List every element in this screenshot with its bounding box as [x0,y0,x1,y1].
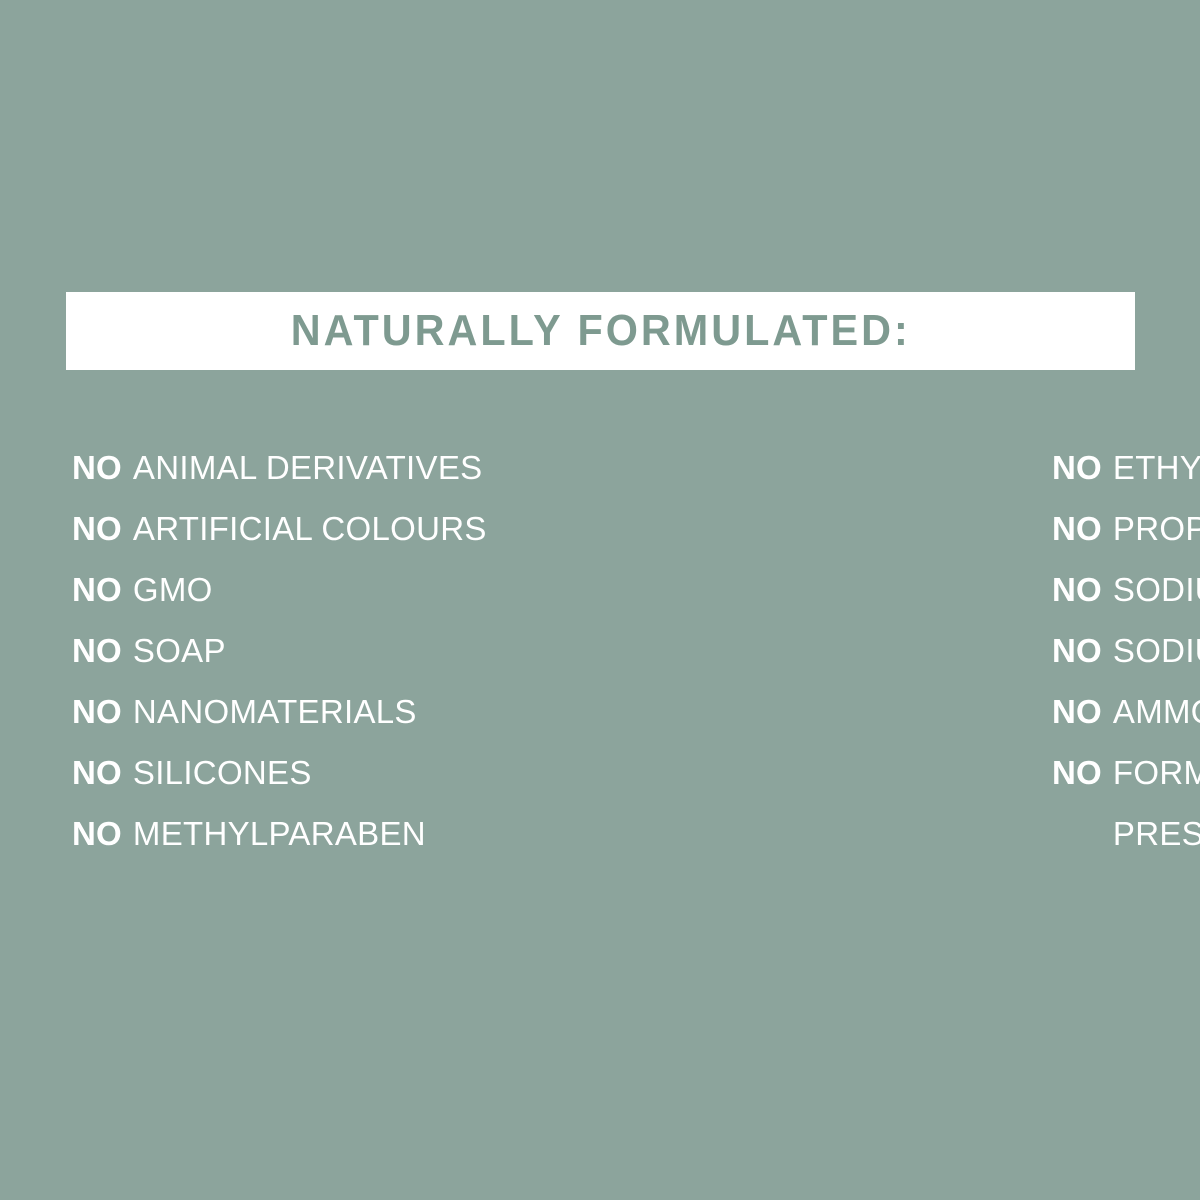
item-no-prefix: NO [72,512,122,545]
page-title: NATURALLY FORMULATED: [291,309,911,353]
ingredient-exclusion-lists: NOANIMAL DERIVATIVESNOARTIFICIAL COLOURS… [0,437,1200,864]
item-label: METHYLPARABEN [133,817,426,850]
list-item: NOSILICONES [72,742,490,803]
item-no-prefix: NO [1052,512,1102,545]
list-item: NOARTIFICIAL COLOURS [72,498,490,559]
item-label: FORMALDEHYDE RELEASING [1113,756,1200,789]
item-label: GMO [133,573,213,606]
list-item: NOMETHYLPARABEN [72,803,490,864]
list-item: NOETHYLPARABEN [1052,437,1200,498]
item-no-prefix: NO [1052,695,1102,728]
item-label: ETHYLPARABEN [1113,451,1200,484]
item-no-prefix: NO [1052,634,1102,667]
item-label: SODIUM LAURYL SULPHATE [1113,573,1200,606]
item-no-prefix: NO [72,451,122,484]
item-no-prefix: NO [1052,451,1102,484]
header-banner: NATURALLY FORMULATED: [66,292,1135,370]
list-item: NOSODIUM LAURETH SULPHATE [1052,620,1200,681]
list-item: NONANOMATERIALS [72,681,490,742]
list-item: NOANIMAL DERIVATIVES [72,437,490,498]
item-no-prefix: NO [72,817,122,850]
list-item: NOGMO [72,559,490,620]
item-label: PROPYLENE GLYCOL [1113,512,1200,545]
list-item: NOSODIUM LAURYL SULPHATE [1052,559,1200,620]
item-no-prefix: NO [1052,756,1102,789]
item-label: ANIMAL DERIVATIVES [133,451,483,484]
item-no-prefix: NO [72,695,122,728]
naturally-formulated-poster: NATURALLY FORMULATED: NOANIMAL DERIVATIV… [0,0,1200,1200]
list-item: NOFORMALDEHYDE RELEASING [1052,742,1200,803]
item-no-prefix: NO [1052,573,1102,606]
item-no-prefix: NO [72,756,122,789]
item-label: SOAP [133,634,226,667]
item-label: NANOMATERIALS [133,695,417,728]
item-no-prefix: NO [72,634,122,667]
list-item: NOPRESERVATIVES [1052,803,1200,864]
exclusion-list-left: NOANIMAL DERIVATIVESNOARTIFICIAL COLOURS… [0,437,490,864]
exclusion-list-right: NOETHYLPARABENNOPROPYLENE GLYCOLNOSODIUM… [490,437,1200,864]
item-label: SILICONES [133,756,312,789]
list-item: NOPROPYLENE GLYCOL [1052,498,1200,559]
list-item: NOSOAP [72,620,490,681]
item-label: ARTIFICIAL COLOURS [133,512,487,545]
item-label: SODIUM LAURETH SULPHATE [1113,634,1200,667]
item-no-prefix: NO [72,573,122,606]
item-label: PRESERVATIVES [1113,817,1200,850]
item-label: AMMONIUM LAURYL SULPHATE [1113,695,1200,728]
list-item: NOAMMONIUM LAURYL SULPHATE [1052,681,1200,742]
